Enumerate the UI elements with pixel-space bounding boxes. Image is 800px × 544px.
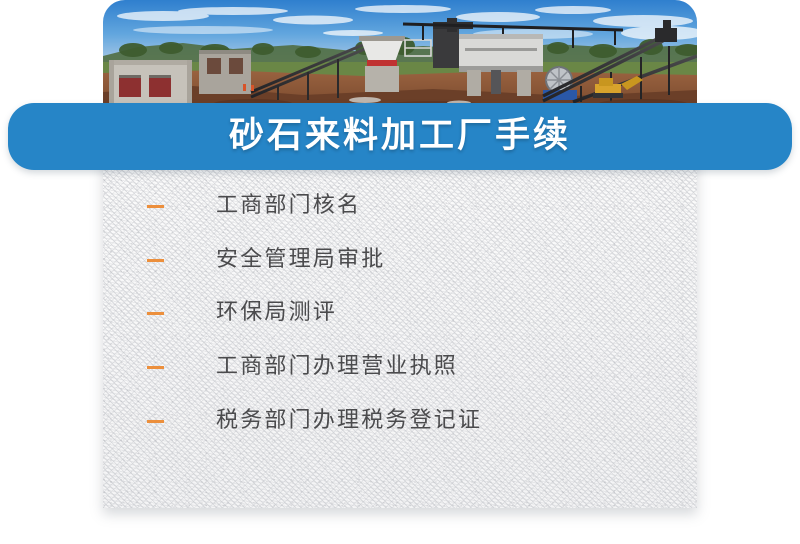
list-item: 环保局测评: [147, 298, 337, 328]
quarry-crushing-plant-photo: [103, 0, 697, 108]
content-panel: 工商部门核名 安全管理局审批 环保局测评 工商部门办理营业执照 税务部门办理税务…: [103, 140, 697, 508]
dash-bullet-icon: [147, 366, 164, 369]
list-item-label: 工商部门核名: [216, 195, 361, 217]
list-item: 安全管理局审批: [147, 245, 385, 275]
list-item-label: 安全管理局审批: [216, 249, 385, 271]
infographic-card: 砂石来料加工厂手续 工商部门核名 安全管理局审批 环保局测评 工商部门办理营业执…: [0, 0, 800, 544]
dash-bullet-icon: [147, 259, 164, 262]
list-item-label: 工商部门办理营业执照: [216, 356, 458, 378]
dash-bullet-icon: [147, 312, 164, 315]
page-title: 砂石来料加工厂手续: [229, 119, 571, 154]
title-banner: 砂石来料加工厂手续: [8, 103, 792, 170]
list-item-label: 税务部门办理税务登记证: [216, 410, 482, 432]
list-item: 工商部门办理营业执照: [147, 352, 458, 382]
list-item: 工商部门核名: [147, 191, 361, 221]
header-photo: [103, 0, 697, 108]
dash-bullet-icon: [147, 420, 164, 423]
list-item: 税务部门办理税务登记证: [147, 406, 482, 436]
dash-bullet-icon: [147, 205, 164, 208]
list-item-label: 环保局测评: [216, 302, 337, 324]
